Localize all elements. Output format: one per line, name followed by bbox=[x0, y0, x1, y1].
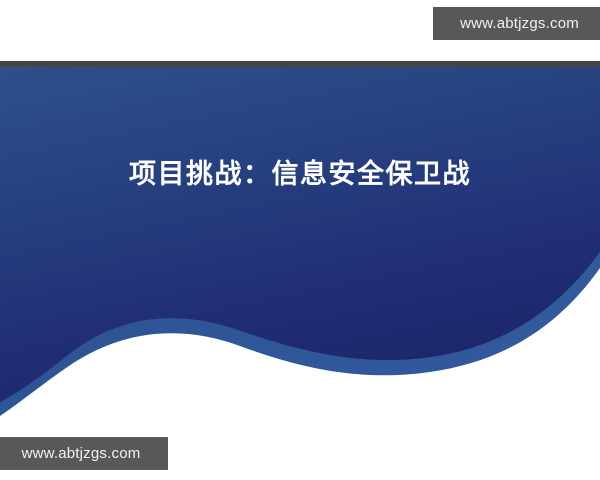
slide-background-artwork bbox=[0, 0, 600, 480]
watermark-bottom-left: www.abtjzgs.com bbox=[0, 437, 168, 470]
watermark-top-right: www.abtjzgs.com bbox=[433, 7, 600, 40]
slide-canvas: 项目挑战：信息安全保卫战 www.abtjzgs.com www.abtjzgs… bbox=[0, 0, 600, 480]
watermark-top-right-text: www.abtjzgs.com bbox=[460, 15, 579, 32]
watermark-bottom-left-text: www.abtjzgs.com bbox=[22, 445, 141, 462]
top-divider-strip bbox=[0, 61, 600, 67]
